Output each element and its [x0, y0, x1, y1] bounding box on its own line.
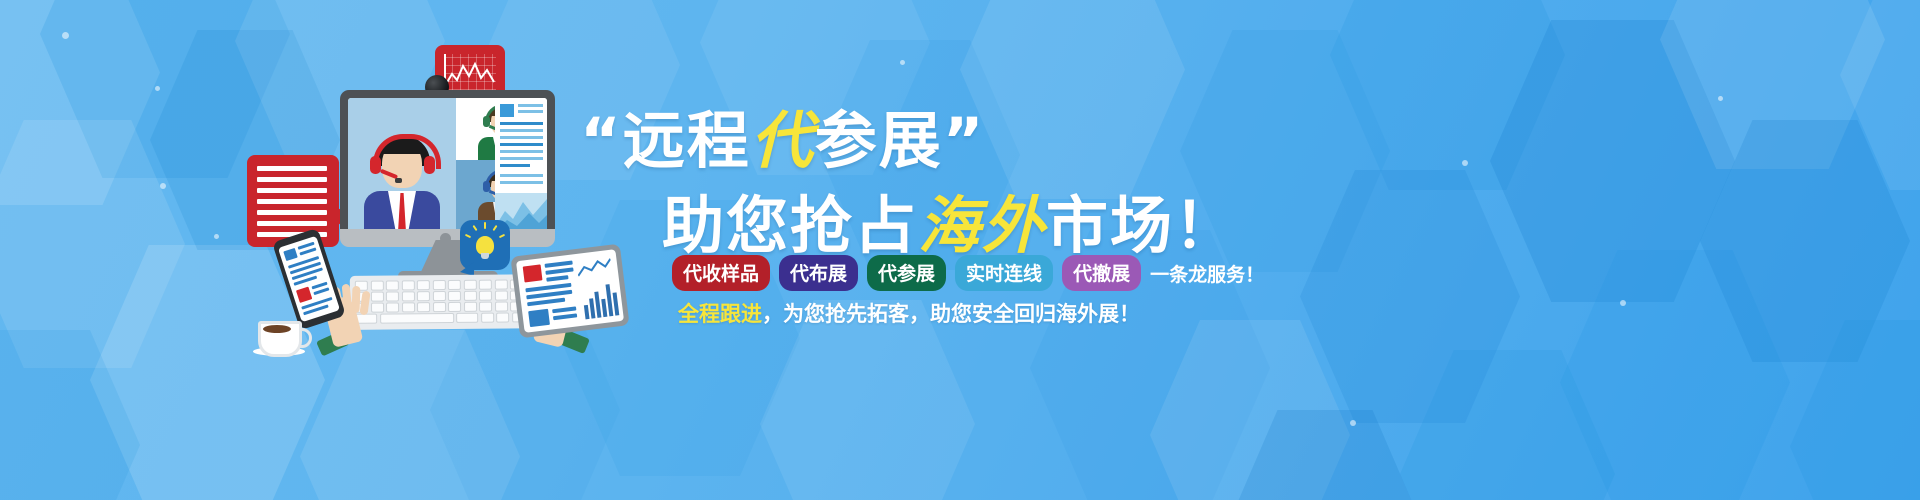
headline-1-accent: 代 [751, 104, 815, 177]
quote-open: “ [580, 104, 623, 177]
desktop-monitor [340, 90, 555, 240]
coffee-cup-icon [258, 317, 304, 353]
badge-sample-collection[interactable]: 代收样品 [672, 255, 770, 291]
video-conference-illustration [250, 35, 670, 365]
service-badge-row: 代收样品 代布展 代参展 实时连线 代撤展 一条龙服务！ [672, 255, 1264, 291]
promo-banner: “远程代参展” 助您抢占海外市场！ 代收样品 代布展 代参展 实时连线 代撤展 … [0, 0, 1920, 500]
headline-line-1: “远程代参展” [580, 90, 986, 180]
headline-1-part-2: 参展 [815, 104, 943, 177]
badge-live-connection[interactable]: 实时连线 [955, 255, 1053, 291]
headline-line-2: 助您抢占海外市场！ [662, 175, 1238, 265]
tagline-rest: ，为您抢先拓客，助您安全回归海外展！ [762, 302, 1140, 326]
headline-2-accent: 海外 [918, 189, 1046, 262]
headline-2-part-1: 助您抢占 [662, 189, 918, 262]
document-panel [495, 98, 547, 232]
headline-2-part-2: 市场！ [1046, 189, 1238, 262]
badge-booth-setup[interactable]: 代布展 [779, 255, 858, 291]
tablet-icon [510, 244, 629, 339]
badge-proxy-exhibition[interactable]: 代参展 [867, 255, 946, 291]
badge-booth-teardown[interactable]: 代撤展 [1062, 255, 1141, 291]
tagline-accent: 全程跟进 [678, 302, 762, 326]
participant-host [348, 98, 456, 232]
lightbulb-icon [460, 220, 510, 270]
banner-tagline: 全程跟进，为您抢先拓客，助您安全回归海外展！ [678, 298, 1140, 328]
chat-bubble-icon [247, 155, 339, 247]
quote-close: ” [943, 104, 986, 177]
headline-1-part-1: 远程 [623, 104, 751, 177]
one-stop-service-note: 一条龙服务！ [1150, 260, 1264, 287]
